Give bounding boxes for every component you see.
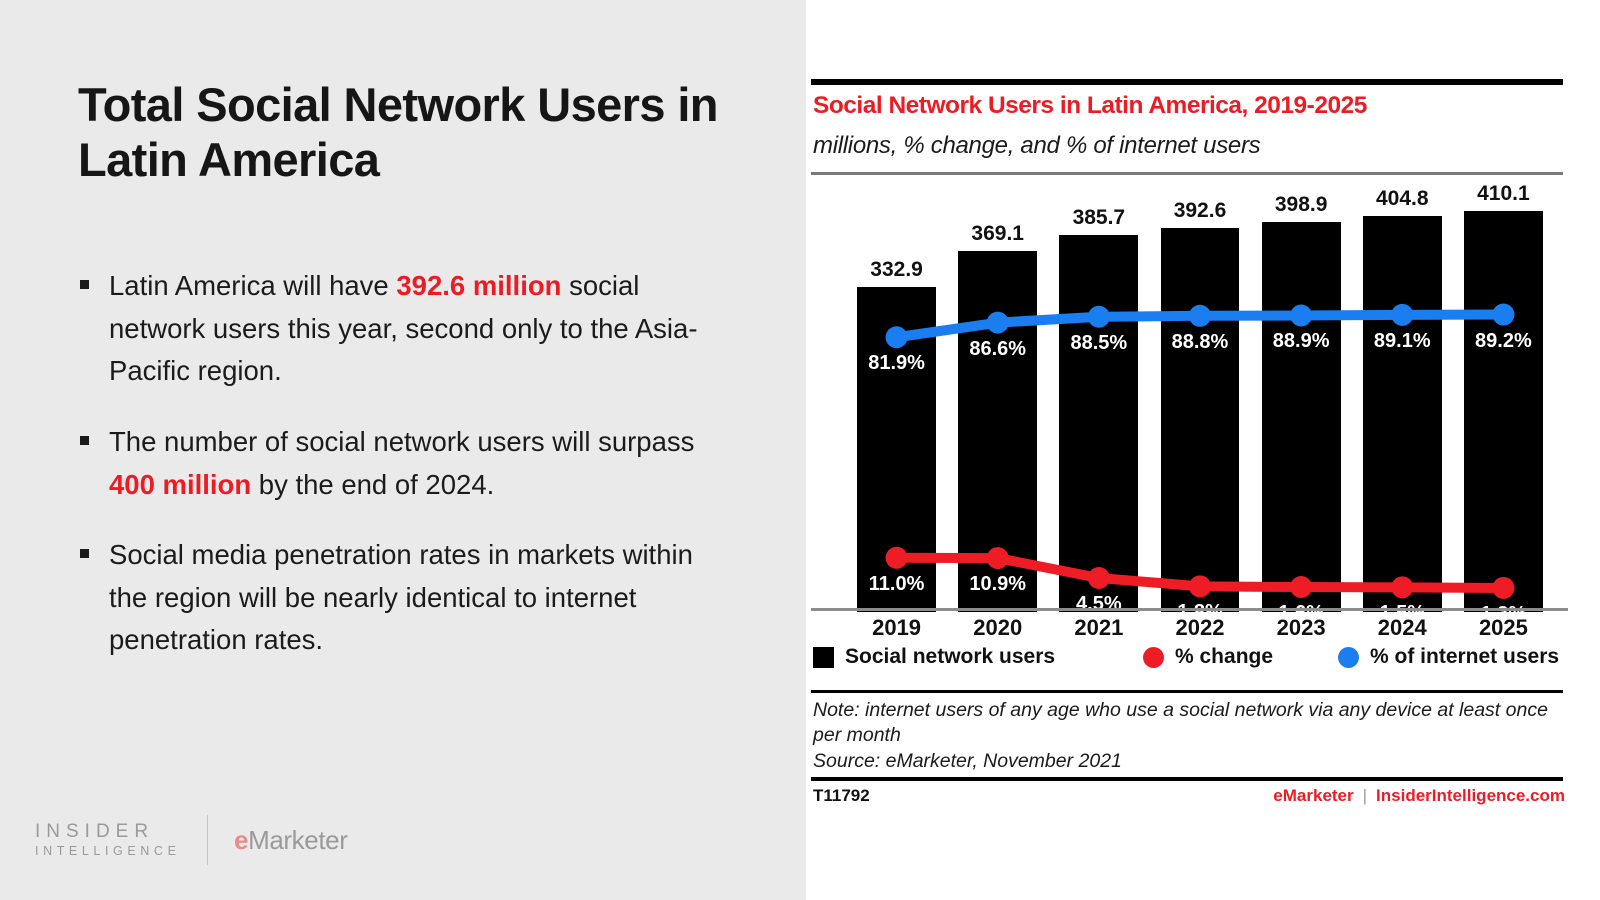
change-pct-marker [1290, 576, 1312, 598]
bullet-text: Latin America will have 392.6 million so… [109, 265, 699, 393]
chart-footer: T11792 eMarketer | InsiderIntelligence.c… [813, 786, 1565, 806]
internet-users-pct-marker [886, 326, 908, 348]
bullet-item: The number of social network users will … [80, 421, 710, 506]
change-pct-marker [1492, 577, 1514, 599]
bullet-text-pre: The number of social network users will … [109, 426, 694, 457]
chart-figure: Social Network Users in Latin America, 2… [811, 0, 1568, 900]
slide-root: Total Social Network Users in Latin Amer… [0, 0, 1600, 900]
x-axis-labels: 2019202020212022202320242025 [811, 613, 1568, 643]
change-pct-marker [1088, 567, 1110, 589]
internet-users-pct-marker [1189, 305, 1211, 327]
x-axis-tick-label: 2024 [1352, 615, 1453, 641]
internet-users-pct-marker [1492, 304, 1514, 326]
footer-emarketer-label: eMarketer [1273, 786, 1353, 806]
page-title: Total Social Network Users in Latin Amer… [78, 78, 718, 188]
internet-users-pct-marker [1391, 304, 1413, 326]
bullet-item: Social media penetration rates in market… [80, 534, 710, 662]
internet-users-pct-marker [987, 312, 1009, 334]
bullet-text: Social media penetration rates in market… [109, 534, 699, 662]
bullet-item: Latin America will have 392.6 million so… [80, 265, 710, 393]
bullet-square-icon [80, 280, 89, 289]
brand-logo: INSIDER INTELLIGENCE eMarketer [35, 815, 347, 865]
x-axis-tick-label: 2023 [1251, 615, 1352, 641]
bullet-square-icon [80, 549, 89, 558]
bullet-text-post: by the end of 2024. [251, 469, 494, 500]
line-overlay [811, 180, 1568, 612]
x-axis-tick-label: 2020 [947, 615, 1048, 641]
insider-intelligence-logo: INSIDER INTELLIGENCE [35, 820, 181, 859]
emarketer-logo-rest: Marketer [248, 825, 347, 855]
change-pct-marker [1189, 575, 1211, 597]
rule-under-legend [811, 690, 1563, 693]
footer-separator: | [1363, 786, 1367, 806]
legend-label: % change [1175, 645, 1273, 669]
emarketer-logo: eMarketer [234, 825, 347, 856]
bullet-square-icon [80, 436, 89, 445]
left-panel: Total Social Network Users in Latin Amer… [0, 0, 806, 900]
legend-dot-icon [1338, 647, 1359, 668]
footer-brand: eMarketer | InsiderIntelligence.com [1273, 786, 1565, 806]
bullet-text: The number of social network users will … [109, 421, 699, 506]
chart-subtitle: millions, % change, and % of internet us… [813, 132, 1565, 160]
bullet-highlight: 392.6 million [396, 270, 561, 301]
change-pct-marker [1391, 576, 1413, 598]
legend-label: % of internet users [1370, 645, 1559, 669]
legend-dot-icon [1143, 647, 1164, 668]
legend-item[interactable]: % change [1143, 645, 1273, 669]
logo-divider [207, 815, 209, 865]
x-axis-tick-label: 2025 [1453, 615, 1554, 641]
internet-users-pct-marker [1290, 304, 1312, 326]
bullet-text-pre: Social media penetration rates in market… [109, 539, 693, 655]
bullet-list: Latin America will have 392.6 million so… [80, 265, 710, 690]
chart-id-code: T11792 [813, 786, 870, 806]
change-pct-marker [987, 547, 1009, 569]
legend-item[interactable]: % of internet users [1338, 645, 1559, 669]
chart-legend: Social network users% change% of interne… [813, 645, 1568, 681]
rule-top [811, 79, 1563, 85]
chart-note: Note: internet users of any age who use … [813, 698, 1565, 749]
bullet-highlight: 400 million [109, 469, 251, 500]
footer-website-link[interactable]: InsiderIntelligence.com [1376, 786, 1565, 806]
bullet-text-pre: Latin America will have [109, 270, 396, 301]
emarketer-logo-e: e [234, 825, 248, 855]
x-axis-tick-label: 2021 [1048, 615, 1149, 641]
logo-line-insider: INSIDER [35, 820, 181, 844]
x-axis-line [811, 608, 1568, 611]
chart-source: Source: eMarketer, November 2021 [813, 750, 1565, 773]
logo-line-intelligence: INTELLIGENCE [35, 844, 181, 860]
x-axis-tick-label: 2019 [846, 615, 947, 641]
rule-under-title [811, 172, 1563, 175]
right-panel: Social Network Users in Latin America, 2… [806, 0, 1600, 900]
internet-users-pct-marker [1088, 306, 1110, 328]
chart-title: Social Network Users in Latin America, 2… [813, 92, 1565, 120]
rule-under-source [811, 777, 1563, 781]
legend-label: Social network users [845, 645, 1055, 669]
change-pct-marker [886, 547, 908, 569]
x-axis-tick-label: 2022 [1149, 615, 1250, 641]
legend-square-icon [813, 647, 834, 668]
legend-item[interactable]: Social network users [813, 645, 1055, 669]
